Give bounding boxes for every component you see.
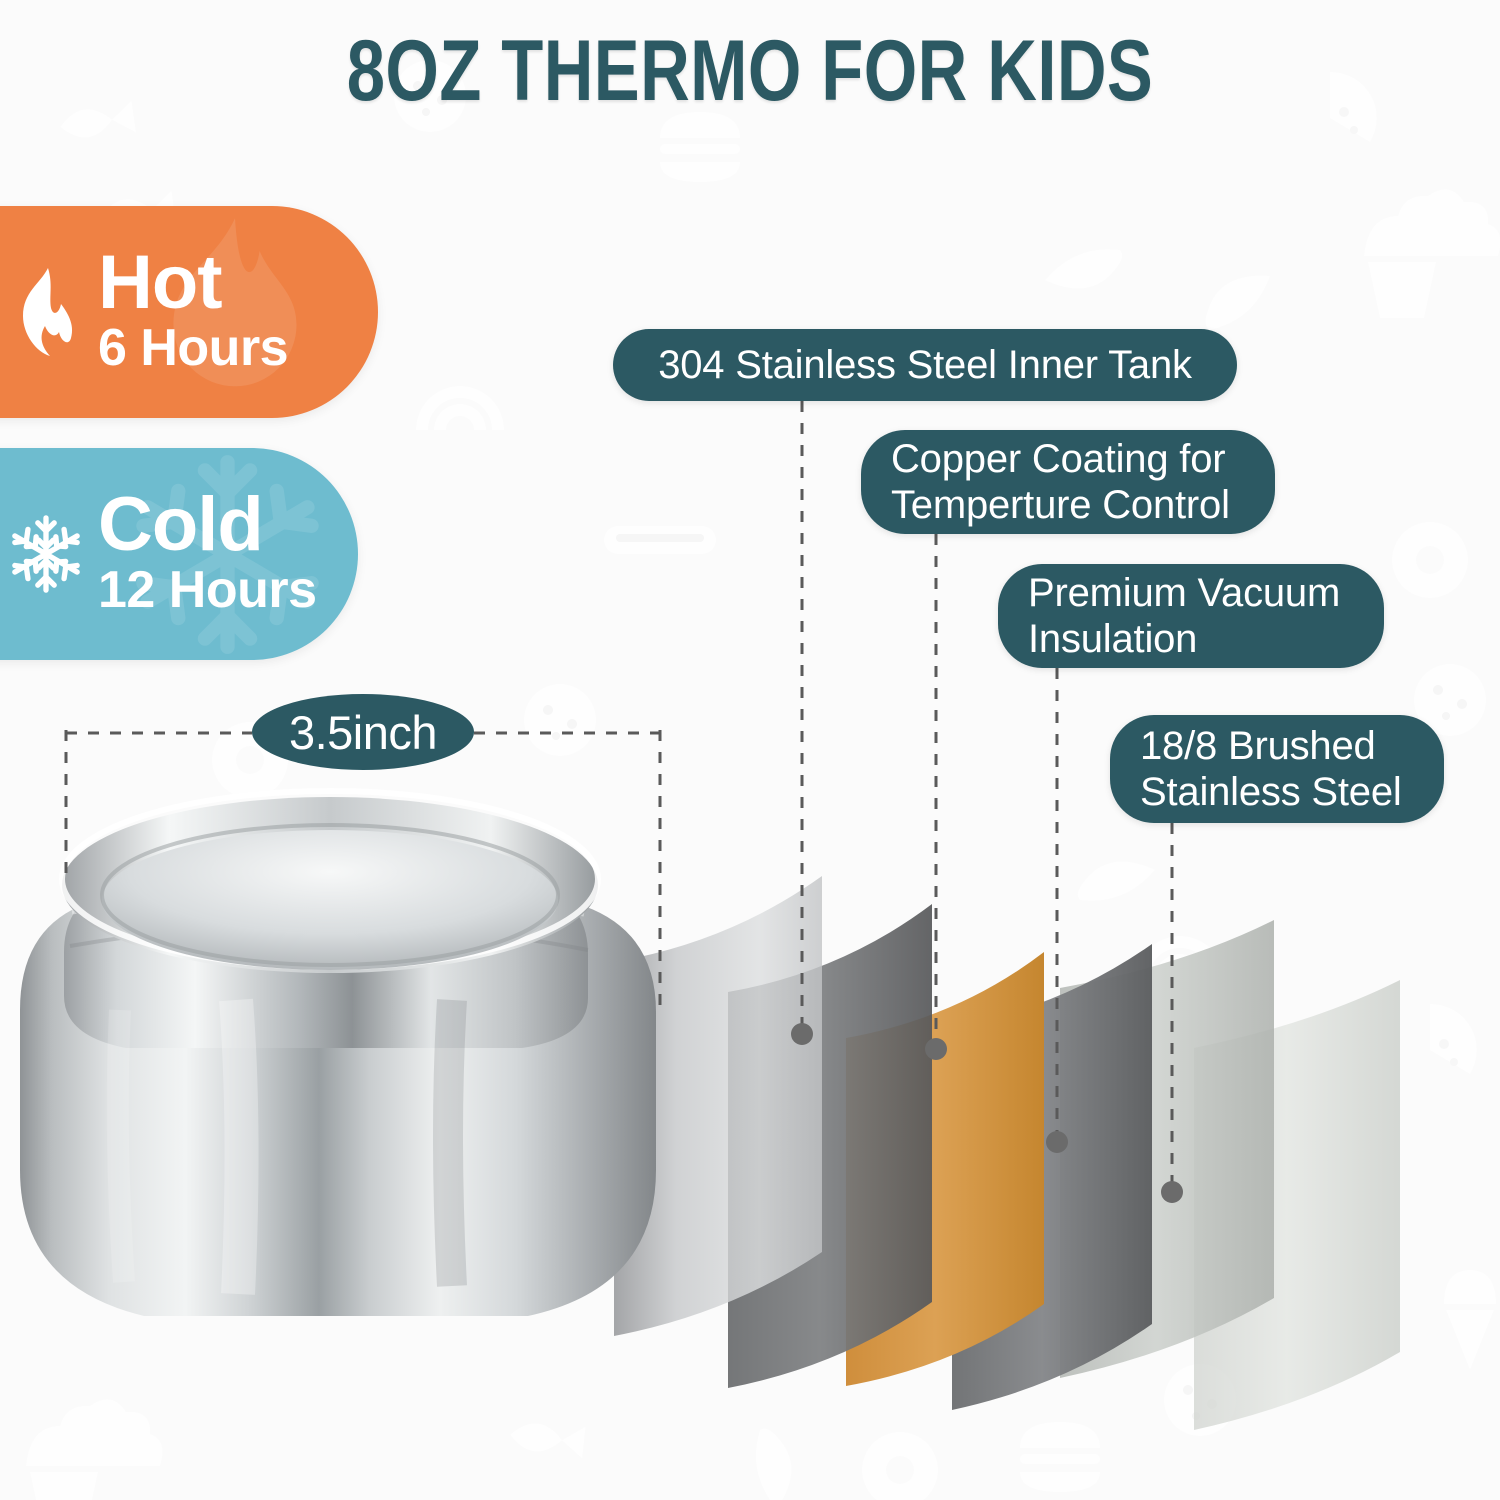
- feature-label-copper-coat: Copper Coating forTemperture Control: [891, 436, 1230, 529]
- feature-label-vacuum: Premium VacuumInsulation: [1028, 570, 1340, 663]
- dimension-badge: 3.5inch: [252, 694, 474, 770]
- badge-hot-title: Hot: [98, 247, 288, 320]
- material-layer-4: [952, 944, 1152, 1410]
- feature-pill-vacuum: Premium VacuumInsulation: [998, 564, 1384, 668]
- badge-hot-text: Hot 6 Hours: [94, 247, 288, 376]
- material-layer-5: [1060, 920, 1274, 1378]
- material-layer-stack: [614, 876, 1400, 1430]
- retention-badge-hot: Hot 6 Hours: [0, 206, 378, 418]
- flame-icon: [0, 206, 94, 418]
- badge-cold-title: Cold: [98, 489, 317, 562]
- infographic-canvas: 8OZ THERMO FOR KIDS Hot 6 Hours: [0, 0, 1500, 1500]
- badge-hot-duration: 6 Hours: [98, 320, 288, 376]
- badge-cold-duration: 12 Hours: [98, 562, 317, 618]
- feature-pill-outer-shell: 18/8 BrushedStainless Steel: [1110, 715, 1444, 823]
- feature-label-outer-shell: 18/8 BrushedStainless Steel: [1140, 723, 1402, 816]
- leader-dot-vacuum: [1046, 1131, 1068, 1153]
- material-layer-2: [728, 904, 932, 1388]
- material-layer-1: [614, 876, 822, 1336]
- leader-dot-inner-tank: [791, 1023, 813, 1045]
- snowflake-icon: [0, 448, 94, 660]
- feature-pill-inner-tank: 304 Stainless Steel Inner Tank: [613, 329, 1237, 401]
- leader-dot-outer-shell: [1161, 1181, 1183, 1203]
- thermo-food-jar: [20, 791, 656, 1316]
- badge-cold-text: Cold 12 Hours: [94, 489, 317, 618]
- retention-badge-cold: Cold 12 Hours: [0, 448, 358, 660]
- material-layer-6: [1194, 980, 1400, 1430]
- leader-dot-copper-coat: [925, 1038, 947, 1060]
- page-title: 8OZ THERMO FOR KIDS: [150, 22, 1350, 121]
- material-layer-3: [846, 952, 1044, 1386]
- feature-label-inner-tank: 304 Stainless Steel Inner Tank: [658, 342, 1192, 388]
- feature-pill-copper-coat: Copper Coating forTemperture Control: [861, 430, 1275, 534]
